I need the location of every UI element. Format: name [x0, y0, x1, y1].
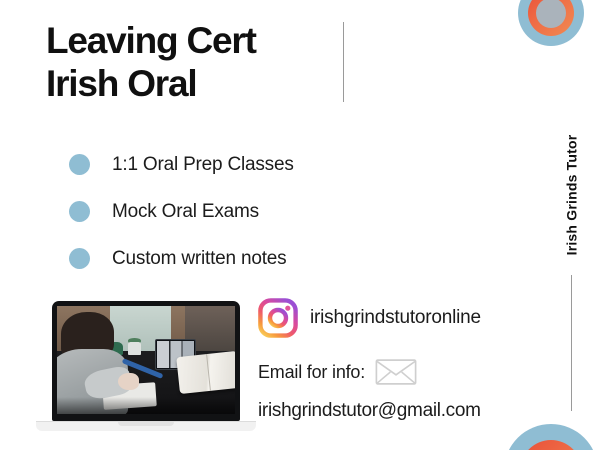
- laptop-base: [36, 421, 256, 431]
- list-item-label: Custom written notes: [112, 248, 286, 270]
- laptop-mockup: [36, 301, 256, 431]
- email-address[interactable]: irishgrindstutor@gmail.com: [258, 400, 558, 422]
- photo-plant-right-pot: [128, 342, 140, 355]
- bullet-dot-icon: [69, 154, 90, 175]
- page-title: Leaving Cert Irish Oral: [46, 20, 336, 106]
- envelope-icon: [375, 358, 417, 386]
- bullet-dot-icon: [69, 248, 90, 269]
- list-item: Custom written notes: [69, 235, 294, 282]
- instagram-icon: [258, 298, 298, 338]
- photo-person-hand: [118, 373, 139, 390]
- instagram-row[interactable]: irishgrindstutoronline: [258, 292, 558, 344]
- list-item-label: 1:1 Oral Prep Classes: [112, 154, 294, 176]
- laptop-lid: [52, 301, 240, 421]
- title-line-2: Irish Oral: [46, 63, 336, 106]
- laptop-screen-photo: [57, 306, 235, 414]
- vertical-divider: [343, 22, 344, 102]
- instagram-handle: irishgrindstutoronline: [310, 307, 481, 329]
- poster-canvas: Leaving Cert Irish Oral 1:1 Oral Prep Cl…: [0, 0, 600, 450]
- list-item-label: Mock Oral Exams: [112, 201, 259, 223]
- email-label-row: Email for info:: [258, 358, 558, 386]
- bullet-dot-icon: [69, 201, 90, 222]
- title-line-1: Leaving Cert: [46, 20, 336, 63]
- brand-vertical-label: Irish Grinds Tutor: [563, 135, 579, 256]
- list-item: Mock Oral Exams: [69, 188, 294, 235]
- laptop-notch: [118, 422, 174, 426]
- photo-vignette: [57, 397, 235, 414]
- photo-open-book: [176, 350, 235, 393]
- vertical-rule: [571, 275, 572, 411]
- email-label: Email for info:: [258, 362, 365, 383]
- feature-list: 1:1 Oral Prep Classes Mock Oral Exams Cu…: [69, 141, 294, 282]
- contact-block: irishgrindstutoronline Email for info: i…: [258, 292, 558, 422]
- photo-book-spine: [206, 354, 211, 391]
- list-item: 1:1 Oral Prep Classes: [69, 141, 294, 188]
- brand-vertical-text: Irish Grinds Tutor: [555, 120, 587, 270]
